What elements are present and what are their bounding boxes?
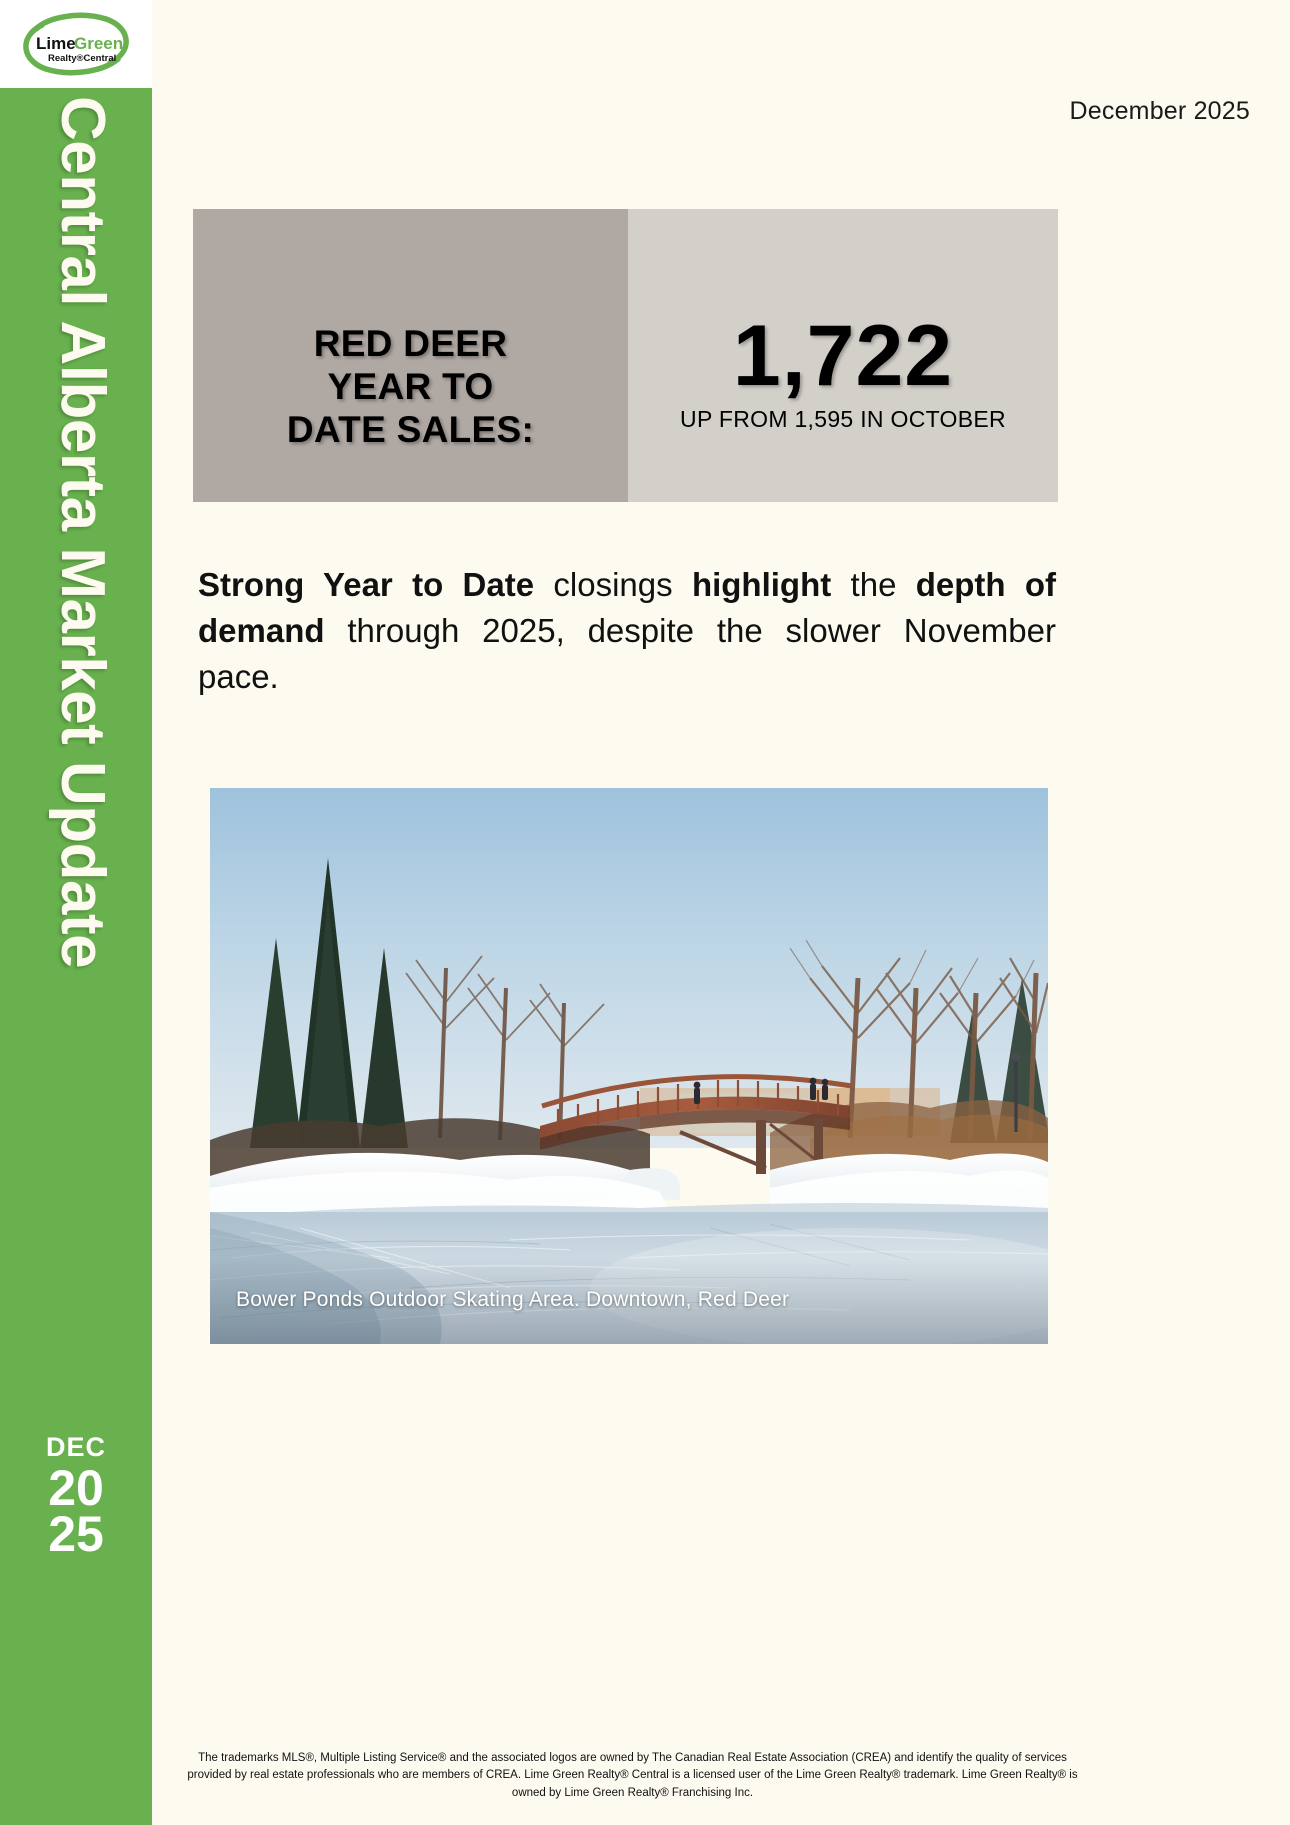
sidebar-year-top: 20 [0,1465,152,1511]
stat-value-panel: 1,722 UP FROM 1,595 IN OCTOBER [628,209,1058,502]
bower-ponds-winter-photo: Bower Ponds Outdoor Skating Area. Downto… [210,788,1048,1344]
brand-sidebar: Lime Green Realty®Central Central Albert… [0,0,152,1825]
svg-text:Realty®Central: Realty®Central [48,53,116,64]
stat-value: 1,722 [733,316,953,398]
issue-date: December 2025 [1070,97,1250,126]
lime-green-realty-central-logo: Lime Green Realty®Central [12,11,140,77]
lede-paragraph: Strong Year to Date closings highlight t… [198,562,1056,701]
lede-segment-5: through 2025, despite the slower Novembe… [198,612,1056,695]
sidebar-year-bottom: 25 [0,1511,152,1557]
lede-segment-2: highlight [692,566,831,603]
sidebar-title-wrap: Central Alberta Market Update [0,88,152,1318]
svg-text:Lime: Lime [36,34,76,53]
stat-banner: RED DEER YEAR TO DATE SALES: 1,722 UP FR… [193,209,1058,502]
lede-segment-0: Strong Year to Date [198,566,534,603]
stat-comparison: UP FROM 1,595 IN OCTOBER [680,406,1006,433]
sidebar-issue-stamp: DEC 20 25 [0,1434,152,1557]
stat-label: RED DEER YEAR TO DATE SALES: [287,260,534,452]
lede-segment-1: closings [534,566,692,603]
brand-logo-box: Lime Green Realty®Central [0,0,152,88]
svg-text:Green: Green [74,34,123,53]
stat-label-panel: RED DEER YEAR TO DATE SALES: [193,209,628,502]
sidebar-title: Central Alberta Market Update [47,96,118,968]
sidebar-month: DEC [0,1434,152,1461]
lede-segment-3: the [831,566,916,603]
photo-caption: Bower Ponds Outdoor Skating Area. Downto… [236,1288,789,1312]
footer-disclaimer: The trademarks MLS®, Multiple Listing Se… [185,1750,1080,1803]
